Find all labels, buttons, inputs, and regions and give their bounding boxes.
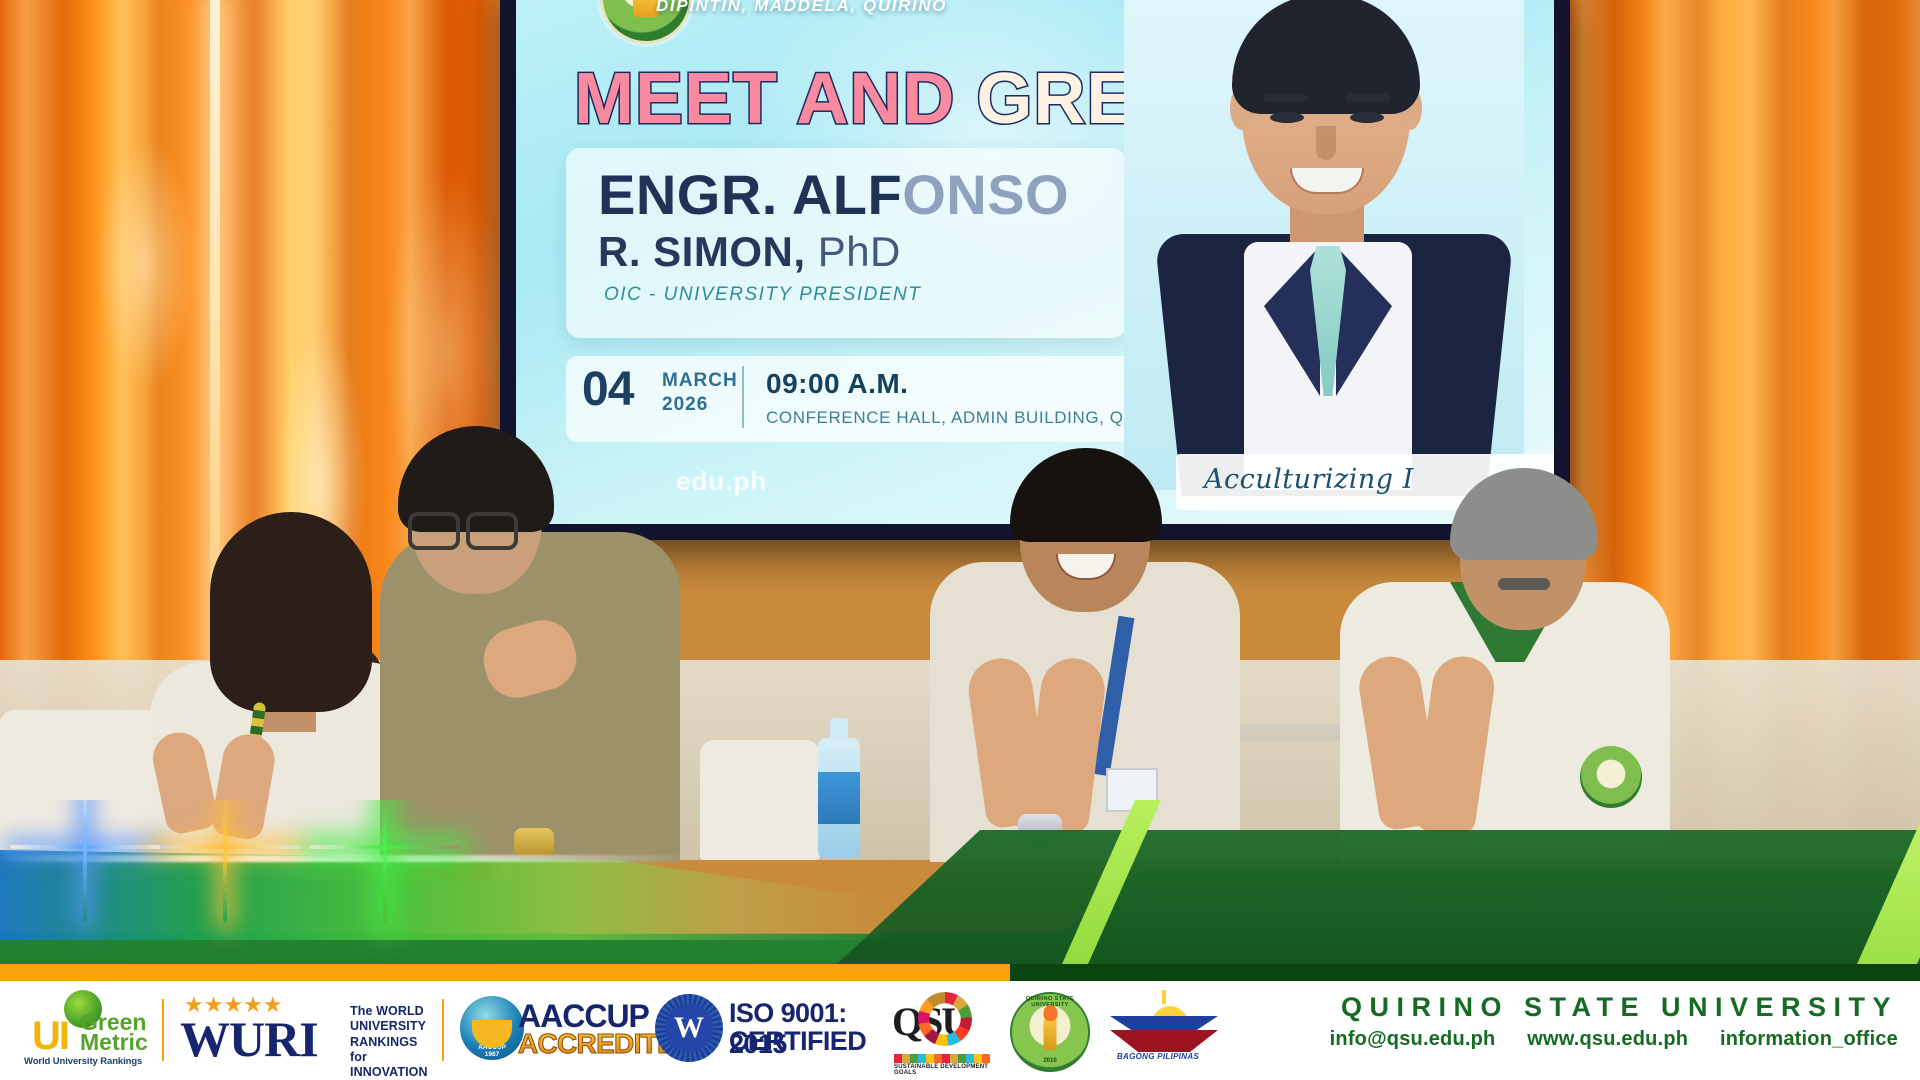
presentation-screen: DIPINTIN, MADDELA, QUIRINO MEET AND GREE… xyxy=(500,0,1570,540)
aaccup-logo: AACCUP 1987 AACCUP ACCREDITED xyxy=(458,988,653,1072)
wuri-line2: UNIVERSITY xyxy=(350,1019,428,1034)
university-contact-block: QUIRINO STATE UNIVERSITY info@qsu.edu.ph… xyxy=(1330,992,1898,1051)
event-month: MARCH xyxy=(662,370,738,392)
uigreenmetric-ui: UI xyxy=(32,1014,68,1059)
sdg-caption: SUSTAINABLE DEVELOPMENT GOALS xyxy=(894,1064,1000,1076)
bagong-pilipinas-caption: BAGONG PILIPINAS xyxy=(1104,1052,1212,1061)
qsu-university-seal: QUIRINO STATE UNIVERSITY 2010 xyxy=(1000,988,1104,1072)
banner-dark-green-shape xyxy=(820,830,1920,980)
event-time: 09:00 A.M. xyxy=(766,368,908,400)
speaker-role: OIC - UNIVERSITY PRESIDENT xyxy=(604,284,921,306)
contact-email[interactable]: info@qsu.edu.ph xyxy=(1330,1028,1496,1050)
speaker-name-card: ENGR. ALFONSO R. SIMON, PhD OIC - UNIVER… xyxy=(566,148,1126,338)
portrait-brow-left xyxy=(1264,94,1308,102)
flag-red-band xyxy=(1110,1030,1218,1052)
portrait-eye-right xyxy=(1350,112,1384,123)
person2-eyeglass-right xyxy=(466,512,518,550)
person4-shirt-crest xyxy=(1580,746,1642,808)
logo-divider-2 xyxy=(442,999,444,1061)
event-day: 04 xyxy=(582,362,633,417)
info-divider xyxy=(742,366,744,428)
logo-divider-1 xyxy=(162,999,164,1061)
accreditation-logo-row: UI Green Metric World University Ranking… xyxy=(18,984,1228,1076)
iso-status: CERTIFIED xyxy=(729,1026,866,1057)
person1-hair xyxy=(210,512,372,712)
torch-icon xyxy=(1044,1018,1057,1050)
portrait-nose xyxy=(1316,126,1336,160)
qsu-seal-graphic: QUIRINO STATE UNIVERSITY 2010 xyxy=(1010,992,1090,1072)
uigreenmetric-metric: Metric xyxy=(80,1032,148,1054)
event-info-bar: 04 MARCH 2026 09:00 A.M. CONFERENCE HALL… xyxy=(566,356,1186,442)
person2-eyeglass-left xyxy=(408,512,460,550)
speaker-name-line1-b: ONSO xyxy=(902,163,1069,226)
wuri-line3: RANKINGS xyxy=(350,1035,428,1050)
qsu-seal-year: 2010 xyxy=(1012,1058,1088,1064)
person4-moustache xyxy=(1498,578,1550,590)
sdg-color-wheel-icon xyxy=(918,992,972,1046)
university-name: QUIRINO STATE UNIVERSITY xyxy=(1330,992,1898,1023)
president-portrait xyxy=(1124,0,1524,490)
uigreenmetric-logo: UI Green Metric World University Ranking… xyxy=(18,988,148,1072)
bagong-pilipinas-logo: BAGONG PILIPINAS xyxy=(1104,988,1228,1072)
slide-tagline: Acculturizing I xyxy=(1204,464,1414,495)
speaker-name-line2: R. SIMON, PhD xyxy=(598,228,901,276)
brand-banner-overlay xyxy=(0,800,1920,980)
contact-row: info@qsu.edu.ph www.qsu.edu.ph informati… xyxy=(1330,1028,1898,1051)
footer-bar: UI Green Metric World University Ranking… xyxy=(0,980,1920,1080)
banner-color-sweep xyxy=(0,850,900,940)
sdg-logo: QSU SUSTAINABLE DEVELOPMENT GOALS xyxy=(888,988,1000,1072)
event-year: 2026 xyxy=(662,394,708,416)
contact-social[interactable]: information_office xyxy=(1720,1028,1898,1050)
aaccup-seal-label: AACCUP 1987 xyxy=(474,1044,510,1059)
screenshot-root: DIPINTIN, MADDELA, QUIRINO MEET AND GREE… xyxy=(0,0,1920,1080)
speaker-degree: PhD xyxy=(818,228,901,275)
wuri-line4: for INNOVATION xyxy=(350,1050,428,1080)
iso-seal-icon: W xyxy=(655,994,723,1062)
slide-location-line: DIPINTIN, MADDELA, QUIRINO xyxy=(656,0,1076,16)
aaccup-seal-icon: AACCUP 1987 xyxy=(460,996,524,1060)
slide-url-fragment: edu.ph xyxy=(676,466,767,497)
sun-ray-icon xyxy=(1162,990,1166,1004)
contact-website[interactable]: www.qsu.edu.ph xyxy=(1527,1028,1688,1050)
portrait-eye-left xyxy=(1270,112,1304,123)
speaker-name-line1-a: ENGR. ALF xyxy=(598,163,902,226)
iso-seal-mark: W xyxy=(665,1004,713,1052)
iso-logo: W ISO 9001: 2015 CERTIFIED xyxy=(653,988,888,1072)
speaker-name-line1: ENGR. ALFONSO xyxy=(598,162,1069,227)
wuri-logo: ★★★★★ WURI The WORLD UNIVERSITY RANKINGS… xyxy=(178,988,428,1072)
footer-rule-orange xyxy=(0,964,1010,981)
sdg-color-bars-icon xyxy=(894,1054,990,1063)
footer-rule-dark-green xyxy=(1010,964,1920,981)
speaker-surname: R. SIMON, xyxy=(598,228,818,275)
wuri-line1: The WORLD xyxy=(350,1004,428,1019)
wuri-tagline: The WORLD UNIVERSITY RANKINGS for INNOVA… xyxy=(350,1004,428,1080)
slide-title-part1: MEET AND xyxy=(574,59,976,139)
bagong-pilipinas-icon xyxy=(1110,994,1218,1052)
uigreenmetric-subtitle: World University Rankings xyxy=(24,1056,142,1067)
banner-light-streak xyxy=(0,855,700,862)
footer-accent-rule xyxy=(0,964,1920,981)
wuri-wordmark: WURI xyxy=(180,1010,318,1068)
portrait-brow-right xyxy=(1346,94,1390,102)
